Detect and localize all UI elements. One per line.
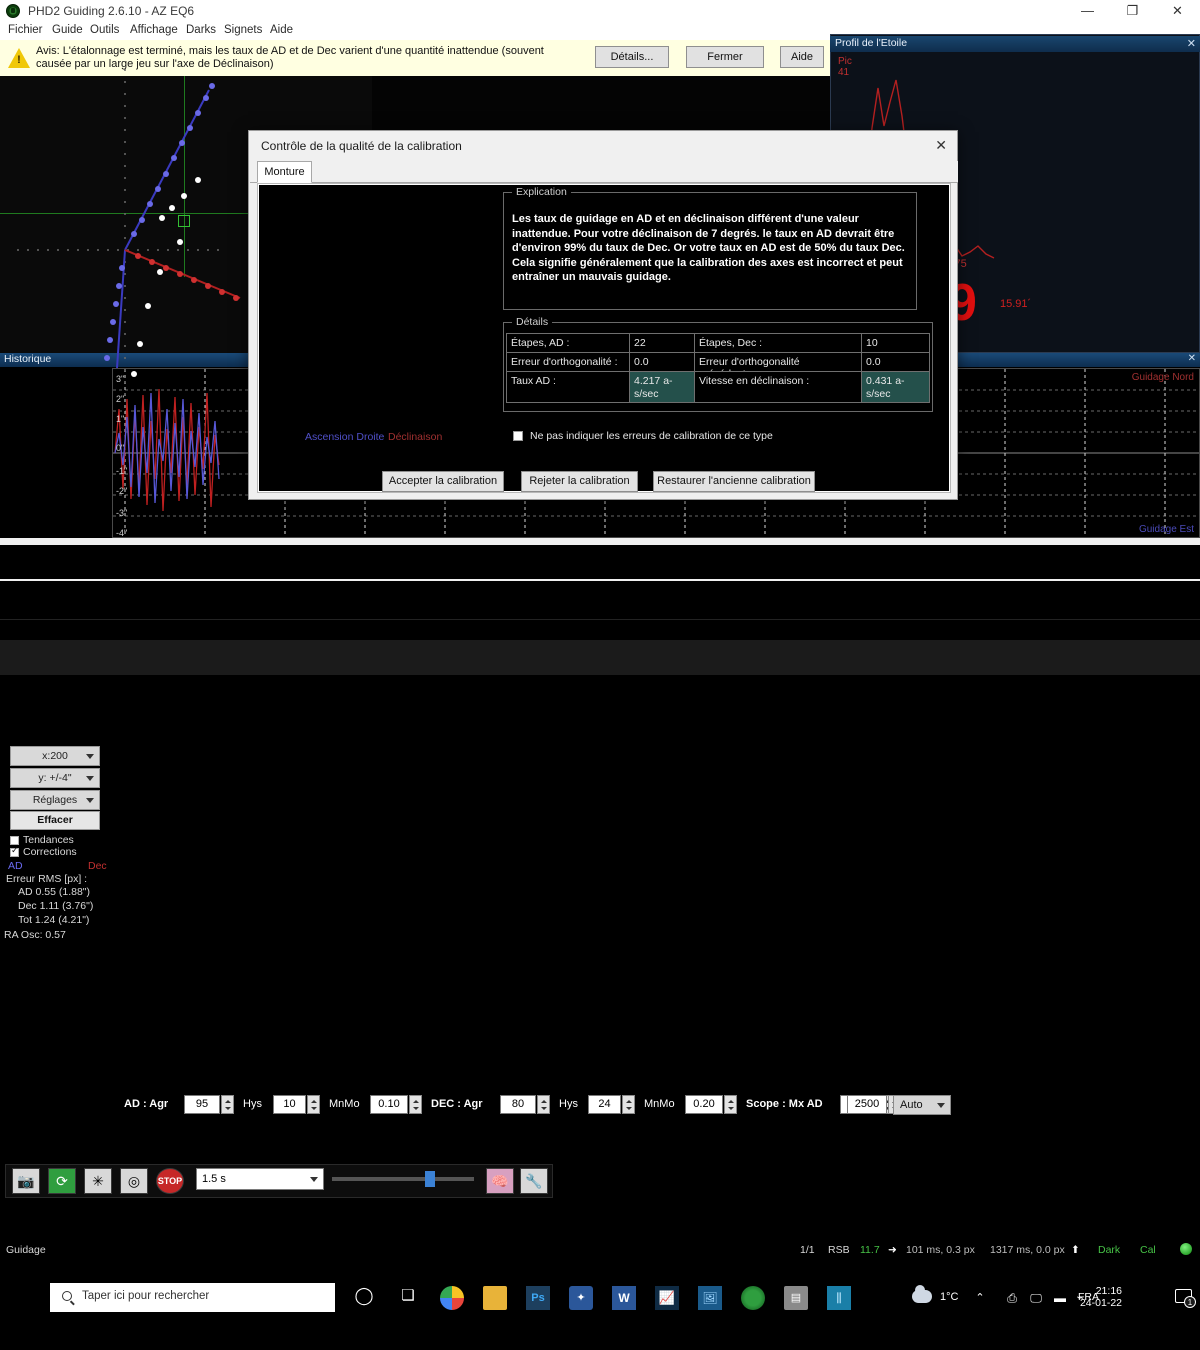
detail-label-rate-ra: Taux AD : <box>506 371 630 403</box>
dialog-tabstrip <box>250 161 958 183</box>
accept-calibration-button[interactable]: Accepter la calibration <box>382 471 504 492</box>
guide-icon[interactable]: ✳ <box>84 1168 112 1194</box>
exposure-select[interactable]: 1.5 s <box>196 1168 324 1190</box>
plot-legend-dec: Déclinaison <box>388 431 442 443</box>
sequence-app-icon[interactable]: ⫼ <box>827 1286 851 1310</box>
ra-hysteresis-label: Hys <box>243 1098 262 1110</box>
minimize-button[interactable]: — <box>1065 0 1110 22</box>
warning-close-button[interactable]: Fermer <box>686 46 764 68</box>
detail-value-ortho-prev: 0.0 <box>861 352 930 372</box>
dialog-close-icon[interactable]: ✕ <box>935 137 947 154</box>
detail-label-ortho: Erreur d'orthogonalité : <box>506 352 630 372</box>
details-table: Étapes, AD : 22 Étapes, Dec : 10 Erreur … <box>506 333 930 409</box>
status-guiding-label: Guidage <box>6 1244 46 1256</box>
explanation-title: Explication <box>512 186 571 198</box>
cortana-icon[interactable]: ◯ <box>352 1286 376 1310</box>
warning-help-button[interactable]: Aide <box>780 46 824 68</box>
ra-minmove-stepper[interactable] <box>409 1095 422 1114</box>
start-button[interactable] <box>0 1280 46 1315</box>
rms-ra-value: AD 0.55 (1.88") <box>18 886 90 898</box>
chevron-down-icon <box>86 776 94 781</box>
trends-label: Tendances <box>23 834 74 846</box>
star-profile-close-icon[interactable]: ✕ <box>1187 37 1196 50</box>
status-ratio: 1/1 <box>800 1244 815 1256</box>
warning-details-button[interactable]: Détails... <box>595 46 669 68</box>
ra-minmove-label: MnMo <box>329 1098 360 1110</box>
phd2-taskbar-icon[interactable] <box>741 1286 765 1310</box>
ra-hysteresis-stepper[interactable] <box>307 1095 320 1114</box>
loop-icon[interactable]: ⟳ <box>48 1168 76 1194</box>
status-cal-label: Cal <box>1140 1244 1156 1256</box>
status-ra-pulse: 101 ms, 0.3 px <box>906 1244 975 1256</box>
history-x-scale-select[interactable]: x:200 <box>10 746 100 766</box>
history-settings-select[interactable]: Réglages <box>10 790 100 810</box>
dec-mode-select[interactable]: Auto <box>893 1095 951 1115</box>
file-explorer-icon[interactable] <box>483 1286 507 1310</box>
ra-aggression-input[interactable]: 95 <box>184 1095 220 1114</box>
status-snr-label: RSB <box>828 1244 850 1256</box>
reject-calibration-button[interactable]: Rejeter la calibration <box>521 471 638 492</box>
brain-icon[interactable]: 🧠 <box>486 1168 514 1194</box>
star-profile-titlebar: Profil de l'Etoile <box>830 36 1200 52</box>
history-y-scale-select[interactable]: y: +/-4" <box>10 768 100 788</box>
corrections-checkbox[interactable] <box>10 848 19 857</box>
status-dark-label: Dark <box>1098 1244 1120 1256</box>
chrome-icon[interactable] <box>440 1286 464 1310</box>
suppress-warning-label: Ne pas indiquer les erreurs de calibrati… <box>530 430 773 442</box>
calibration-scatter-plot <box>12 56 252 446</box>
suppress-warning-checkbox[interactable] <box>513 431 523 441</box>
search-placeholder: Taper ici pour rechercher <box>82 1290 209 1302</box>
detail-value-ortho: 0.0 <box>629 352 695 372</box>
detail-value-steps-ra: 22 <box>629 333 695 353</box>
ra-aggression-stepper[interactable] <box>221 1095 234 1114</box>
app-logo-icon <box>6 4 20 18</box>
menu-item-affichage[interactable]: Affichage <box>128 24 180 36</box>
rms-dec-value: Dec 1.11 (3.76") <box>18 900 93 912</box>
clock-time: 21:16 <box>1096 1285 1122 1297</box>
tab-monture[interactable]: Monture <box>257 161 312 183</box>
windows-taskbar: Taper ici pour rechercher ◯ ❏ Ps ✦ W 📈 🖼… <box>0 640 1200 675</box>
menu-item-fichier[interactable]: Fichier <box>6 24 45 36</box>
wrench-icon[interactable]: 🔧 <box>520 1168 548 1194</box>
trends-checkbox[interactable] <box>10 836 19 845</box>
history-close-icon[interactable]: ✕ <box>1188 353 1196 364</box>
menu-item-guide[interactable]: Guide <box>50 24 85 36</box>
task-view-icon[interactable]: ❏ <box>396 1286 420 1310</box>
search-icon <box>62 1291 72 1301</box>
status-indicator-icon <box>1180 1243 1192 1255</box>
word-icon[interactable]: W <box>612 1286 636 1310</box>
ra-hysteresis-input[interactable]: 10 <box>273 1095 306 1114</box>
dialog-title: Contrôle de la qualité de la calibration <box>261 139 462 153</box>
status-dec-pulse: 1317 ms, 0.0 px <box>990 1244 1065 1256</box>
camera-icon[interactable]: 📷 <box>12 1168 40 1194</box>
rms-total-value: Tot 1.24 (4.21") <box>18 914 89 926</box>
graph-ytick-5: -2" <box>116 486 127 496</box>
window-title: PHD2 Guiding 2.6.10 - AZ EQ6 <box>28 4 194 18</box>
detail-label-steps-dec: Étapes, Dec : <box>694 333 862 353</box>
photoshop-icon[interactable]: Ps <box>526 1286 550 1310</box>
ra-oscillation-value: RA Osc: 0.57 <box>4 929 66 941</box>
maximize-button[interactable]: ❐ <box>1110 0 1155 22</box>
chevron-down-icon <box>86 754 94 759</box>
detail-value-rate-ra: 4.217 a-s/sec 1.243 px/sec <box>629 371 695 403</box>
detail-label-rate-dec: Vitesse en déclinaison : <box>694 371 862 403</box>
star-fwhm-value: 15.91´ <box>1000 298 1031 310</box>
detail-label-ortho-prev: Erreur d'orthogonalité précédente: <box>694 352 862 372</box>
ra-aggression-label: AD : Agr <box>124 1098 168 1110</box>
detail-value-steps-dec: 10 <box>861 333 930 353</box>
usb-device-icon[interactable]: ⎙ <box>1000 1286 1024 1310</box>
brightness-slider-handle[interactable] <box>425 1171 435 1187</box>
camera-app-icon[interactable]: ▤ <box>784 1286 808 1310</box>
max-dec-input[interactable]: 2500 <box>847 1095 887 1114</box>
dec-aggression-stepper[interactable] <box>537 1095 550 1114</box>
app-icon-blue[interactable]: ✦ <box>569 1286 593 1310</box>
dec-aggression-label: DEC : Agr <box>431 1098 483 1110</box>
status-bar: Guidage 1/1 RSB 11.7 ➜ 101 ms, 0.3 px 13… <box>0 619 1200 641</box>
detail-value-rate-dec: 0.431 a-s/sec 2.785 px/sec <box>861 371 930 403</box>
stop-icon[interactable]: STOP <box>156 1168 184 1194</box>
menu-item-signets[interactable]: Signets <box>222 24 264 36</box>
arrow-up-icon: ⬆ <box>1071 1244 1080 1256</box>
target-icon[interactable]: ◎ <box>120 1168 148 1194</box>
detail-label-steps-ra: Étapes, AD : <box>506 333 630 353</box>
chart-app-icon[interactable]: 📈 <box>655 1286 679 1310</box>
arrow-right-icon: ➜ <box>888 1244 897 1256</box>
calibration-quality-dialog: Contrôle de la qualité de la calibration… <box>248 130 958 500</box>
clock[interactable]: 21:1624-01-22 <box>1080 1285 1122 1309</box>
menu-item-aide[interactable]: Aide <box>268 24 295 36</box>
rms-error-title: Erreur RMS [px] : <box>6 873 87 885</box>
history-dec-legend: Dec <box>88 860 107 872</box>
window-titlebar: PHD2 Guiding 2.6.10 - AZ EQ6 — ❐ ✕ <box>0 0 1200 22</box>
dec-hysteresis-label: Hys <box>559 1098 578 1110</box>
star-profile-title: Profil de l'Etoile <box>835 37 907 49</box>
dec-minmove-label: MnMo <box>644 1098 675 1110</box>
chevron-down-icon <box>937 1103 945 1108</box>
guiding-parameters-bar: AD : Agr 95 Hys 10 MnMo 0.10 DEC : Agr 8… <box>0 545 1200 579</box>
restore-calibration-button[interactable]: Restaurer l'ancienne calibration <box>653 471 815 492</box>
dec-aggression-input[interactable]: 80 <box>500 1095 536 1114</box>
menu-item-darks[interactable]: Darks <box>184 24 218 36</box>
graph-ytick-6: -3" <box>116 508 127 518</box>
display-settings-icon[interactable]: 🖵 <box>1024 1286 1048 1310</box>
main-toolbar: 📷 ⟳ ✳ ◎ STOP 1.5 s 🧠 🔧 <box>0 581 1200 619</box>
dec-hysteresis-stepper[interactable] <box>622 1095 635 1114</box>
ra-minmove-input[interactable]: 0.10 <box>370 1095 408 1114</box>
notification-count-badge[interactable]: 1 <box>1184 1296 1196 1308</box>
brightness-slider[interactable] <box>332 1177 474 1181</box>
guide-north-label: Guidage Nord <box>1132 372 1194 383</box>
guide-east-label: Guidage Est <box>1139 524 1194 535</box>
details-title: Détails <box>512 316 552 328</box>
image-app-icon[interactable]: 🖼 <box>698 1286 722 1310</box>
weather-temperature[interactable]: 1°C <box>940 1291 958 1303</box>
clock-date: 24-01-22 <box>1080 1297 1122 1309</box>
weather-cloud-icon[interactable] <box>912 1290 932 1303</box>
history-ra-legend: AD <box>8 860 23 872</box>
menu-item-outils[interactable]: Outils <box>88 24 121 36</box>
explanation-text: Les taux de guidage en AD et en déclinai… <box>512 212 906 285</box>
history-clear-button[interactable]: Effacer <box>10 811 100 830</box>
dec-minmove-input[interactable]: 0.20 <box>685 1095 723 1114</box>
close-button[interactable]: ✕ <box>1155 0 1200 22</box>
graph-ytick-4: -1" <box>116 466 127 476</box>
chevron-down-icon <box>310 1177 318 1182</box>
dec-minmove-stepper[interactable] <box>724 1095 737 1114</box>
scope-max-ra-label: Scope : Mx AD <box>746 1098 823 1110</box>
plot-legend-ra: Ascension Droite <box>305 431 384 443</box>
chevron-down-icon <box>86 798 94 803</box>
dec-hysteresis-input[interactable]: 24 <box>588 1095 621 1114</box>
corrections-label: Corrections <box>23 846 77 858</box>
chevron-up-icon[interactable]: ⌃ <box>968 1286 992 1310</box>
graph-ytick-7: -4" <box>116 528 127 538</box>
status-snr-value: 11.7 <box>860 1244 880 1256</box>
